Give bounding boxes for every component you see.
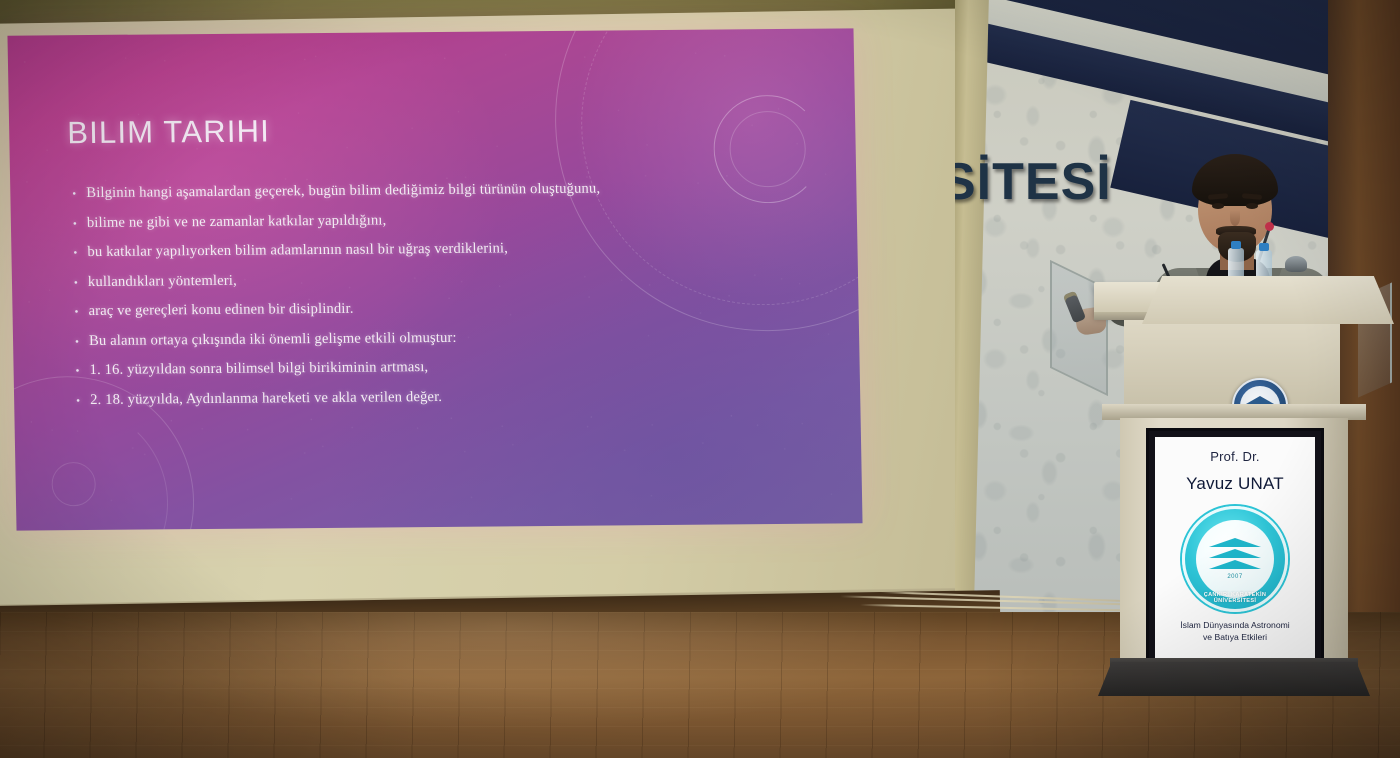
- list-item-text: 1. 16. yüzyıldan sonra bilimsel bilgi bi…: [89, 356, 835, 380]
- slide-title: BILIM TARIHI: [67, 113, 270, 151]
- decorative-ring-icon: [51, 462, 96, 506]
- bullet-dot-icon: •: [73, 219, 87, 230]
- seal-year: 2007: [1227, 574, 1242, 580]
- speaker-hair: [1192, 154, 1278, 206]
- podium-base: [1098, 662, 1370, 696]
- bottle-cap: [1259, 243, 1269, 251]
- microphone-head-icon: [1265, 222, 1274, 231]
- university-seal-inner: 2007: [1196, 520, 1274, 598]
- nameplate-frame: Prof. Dr. Yavuz UNAT 2007 ÇANKIRI KARATE…: [1146, 428, 1324, 676]
- bullet-dot-icon: •: [75, 337, 89, 348]
- list-item: • Bu alanın ortaya çıkışında iki önemli …: [75, 326, 835, 350]
- list-item-text: 2. 18. yüzyılda, Aydınlanma hareketi ve …: [90, 385, 836, 409]
- list-item: • Bilginin hangi aşamalardan geçerek, bu…: [72, 179, 832, 203]
- list-item: • kullandıkları yöntemleri,: [74, 267, 834, 291]
- speaker-nose: [1230, 210, 1240, 226]
- list-item: • araç ve gereçleri konu edinen bir disi…: [74, 297, 834, 321]
- podium-front-slab: [1142, 276, 1394, 324]
- wall-sign-text: SİTESİ: [955, 152, 1112, 212]
- list-item-text: araç ve gereçleri konu edinen bir disipl…: [88, 297, 834, 321]
- seal-ring-text: ÇANKIRI KARATEKİN ÜNİVERSİTESİ: [1185, 592, 1285, 604]
- bullet-dot-icon: •: [76, 366, 90, 377]
- slide-bullet-list: • Bilginin hangi aşamalardan geçerek, bu…: [72, 179, 836, 422]
- list-item: • bu katkılar yapılıyorken bilim adamlar…: [73, 238, 833, 262]
- list-item-text: Bu alanın ortaya çıkışında iki önemli ge…: [89, 326, 835, 350]
- bullet-dot-icon: •: [73, 248, 87, 259]
- bullet-dot-icon: •: [74, 307, 88, 318]
- list-item-text: bu katkılar yapılıyorken bilim adamların…: [87, 238, 833, 262]
- podium: Prof. Dr. Yavuz UNAT 2007 ÇANKIRI KARATE…: [1088, 276, 1380, 712]
- list-item-text: Bilginin hangi aşamalardan geçerek, bugü…: [86, 179, 832, 203]
- projected-slide: BILIM TARIHI • Bilginin hangi aşamalarda…: [7, 28, 862, 530]
- lecture-hall-scene: BILIM TARIHI • Bilginin hangi aşamalarda…: [0, 0, 1400, 758]
- nameplate-subtitle-line2: ve Batıya Etkileri: [1160, 632, 1310, 644]
- microphone-base: [1285, 256, 1307, 272]
- bullet-dot-icon: •: [74, 278, 88, 289]
- podium-front-face: [1124, 320, 1340, 406]
- speaker-eye: [1212, 203, 1224, 209]
- list-item-text: kullandıkları yöntemleri,: [88, 267, 834, 291]
- list-item: • bilime ne gibi ve ne zamanlar katkılar…: [73, 208, 833, 232]
- decorative-ring-icon: [729, 111, 806, 188]
- nameplate-subtitle: İslam Dünyasında Astronomi ve Batıya Etk…: [1160, 620, 1310, 643]
- list-item-text: bilime ne gibi ve ne zamanlar katkılar y…: [87, 208, 833, 232]
- bottle-cap: [1231, 241, 1241, 249]
- bullet-dot-icon: •: [76, 396, 90, 407]
- university-seal-icon: 2007 ÇANKIRI KARATEKİN ÜNİVERSİTESİ: [1182, 506, 1288, 612]
- water-bottle: [1228, 248, 1244, 278]
- chevron-icon: [1209, 538, 1261, 572]
- nameplate: Prof. Dr. Yavuz UNAT 2007 ÇANKIRI KARATE…: [1155, 437, 1315, 667]
- list-item: • 1. 16. yüzyıldan sonra bilimsel bilgi …: [75, 356, 835, 380]
- nameplate-name: Yavuz UNAT: [1186, 474, 1284, 494]
- nameplate-title: Prof. Dr.: [1210, 449, 1259, 464]
- nameplate-subtitle-line1: İslam Dünyasında Astronomi: [1160, 620, 1310, 632]
- speaker-eye: [1246, 203, 1258, 209]
- list-item: • 2. 18. yüzyılda, Aydınlanma hareketi v…: [76, 385, 836, 409]
- bullet-dot-icon: •: [72, 189, 86, 200]
